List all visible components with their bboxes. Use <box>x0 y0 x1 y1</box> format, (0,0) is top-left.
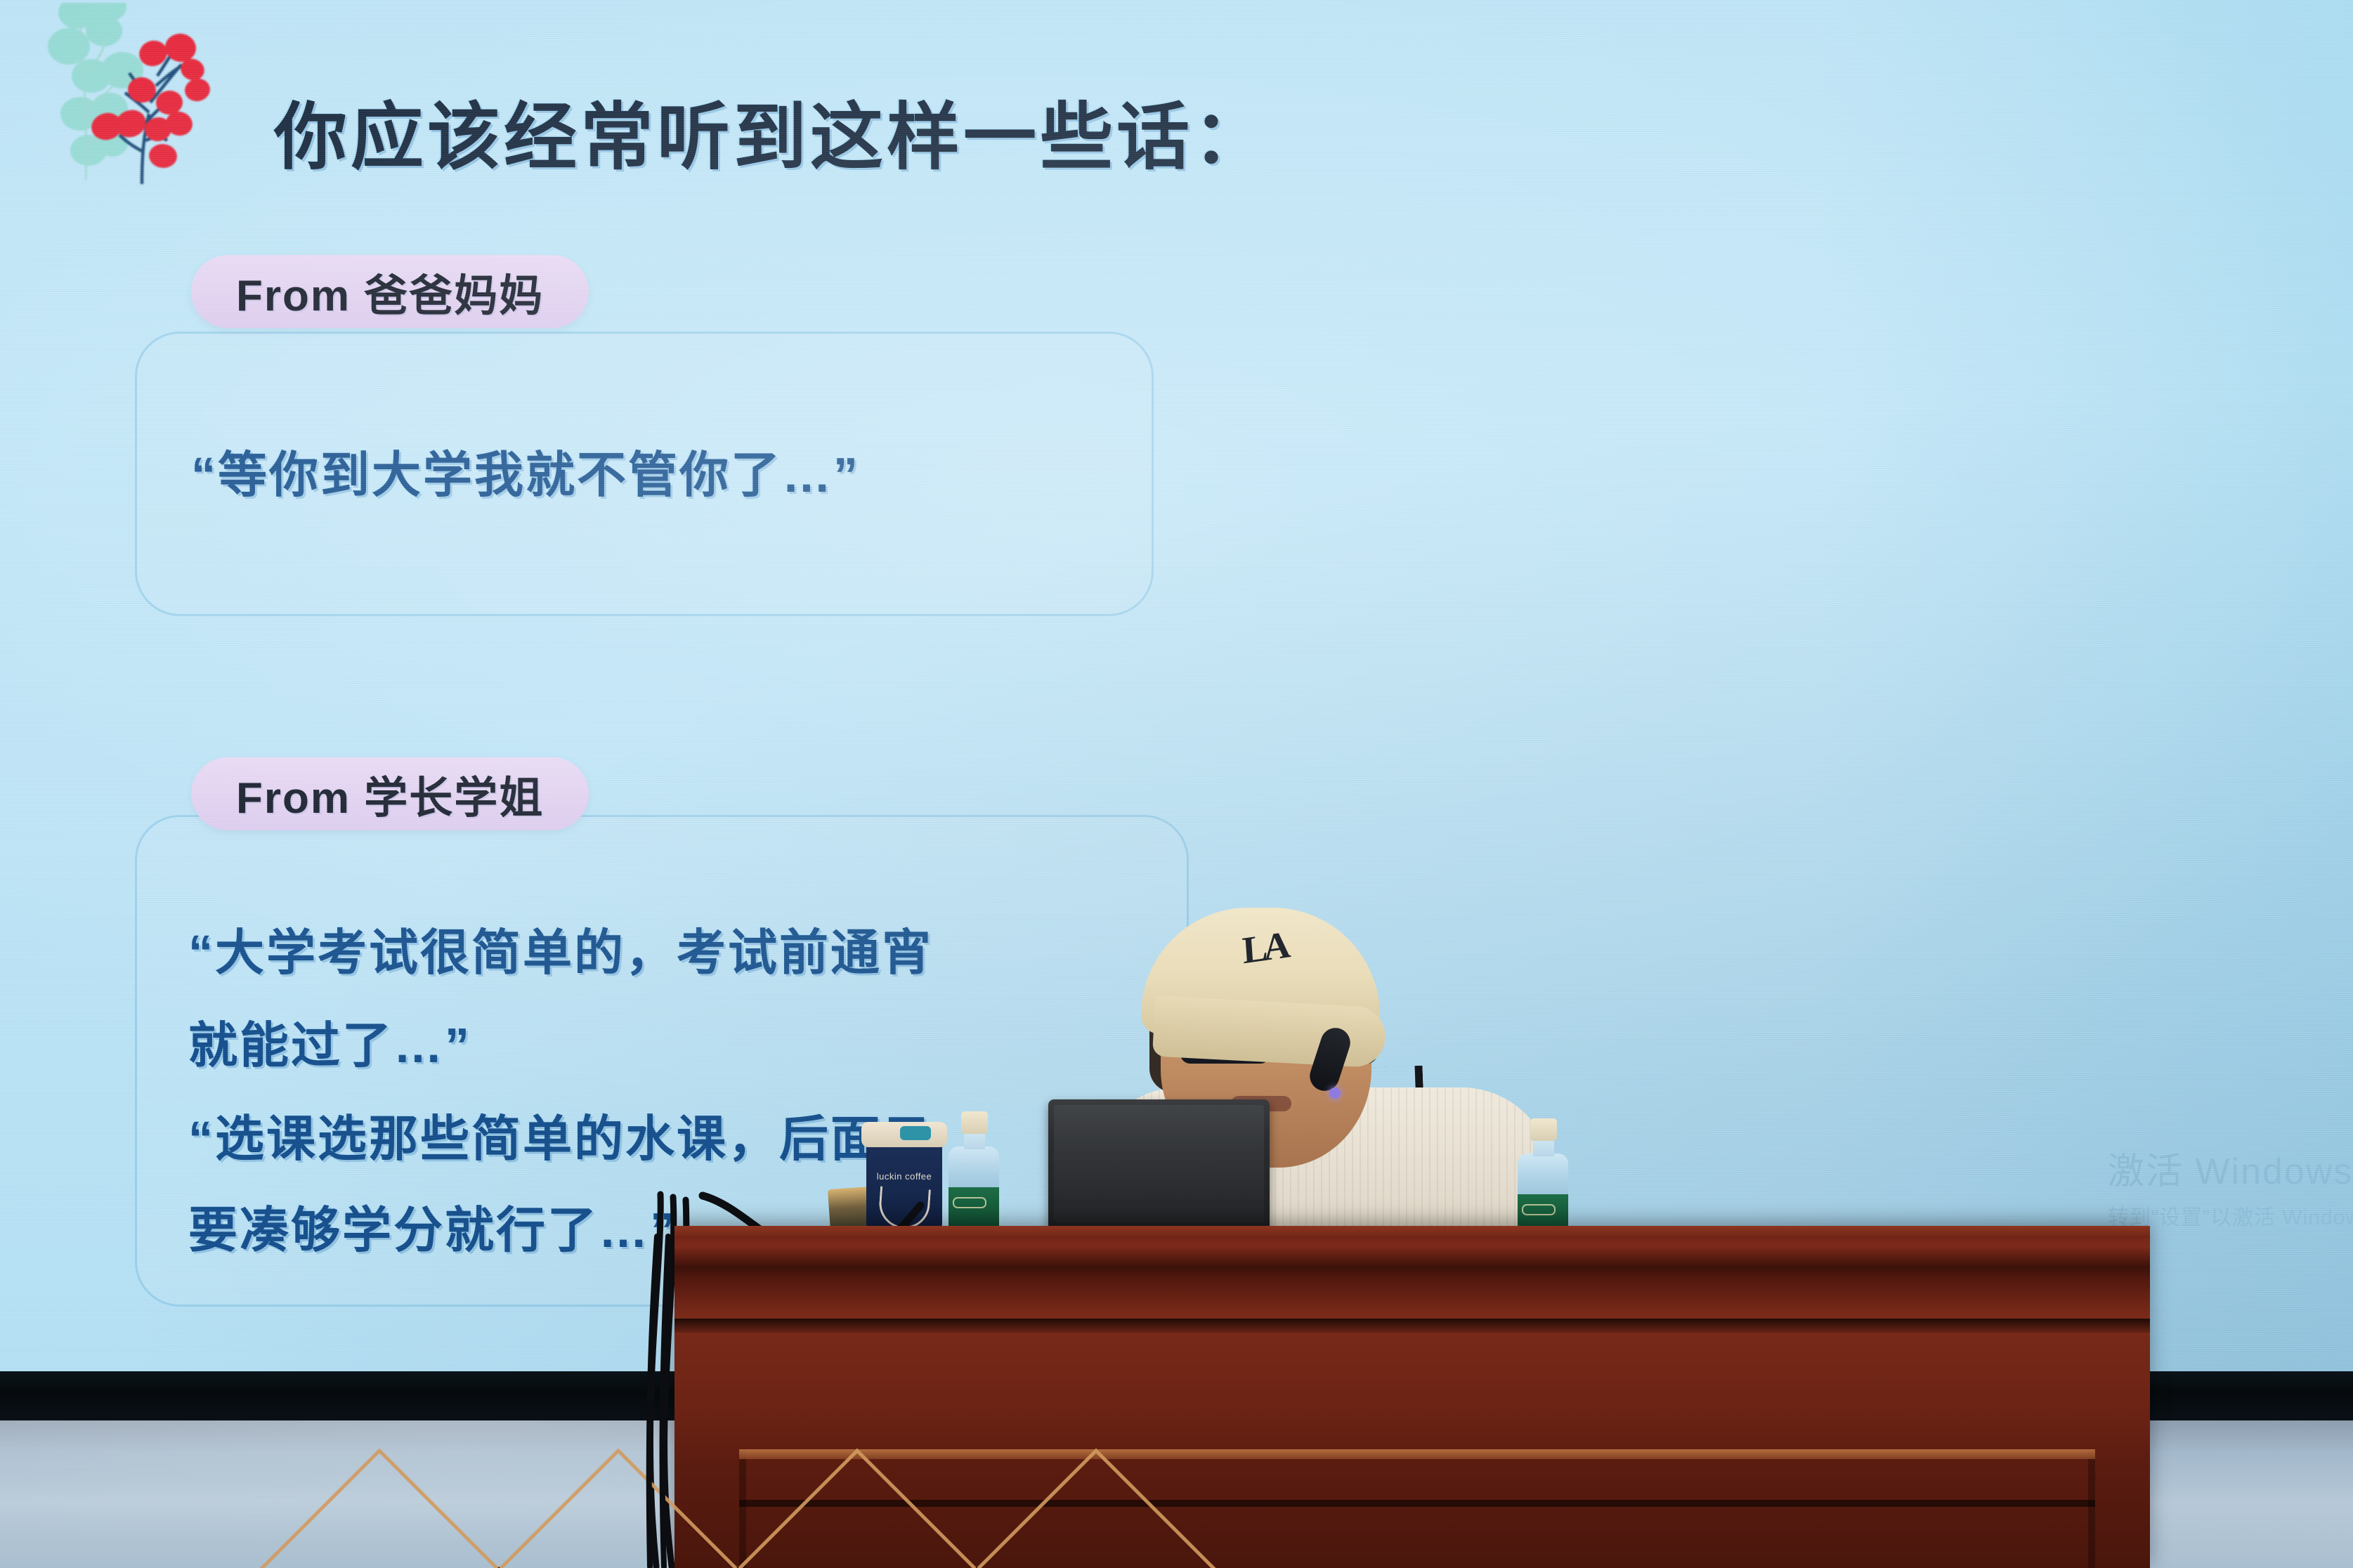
badge-from-seniors-label: From 学长学姐 <box>236 762 544 825</box>
windows-activation-watermark: 激活 Windows 转到“设置”以激活 Windows <box>2108 1142 2353 1231</box>
podium-shadow-lip <box>674 1319 2150 1333</box>
quote-parents-line-1: “等你到大学我就不管你了…” <box>191 436 860 507</box>
quote-seniors-line-3: “选课选那些简单的水课，后面只 <box>188 1099 933 1170</box>
podium-diamond-inlay <box>84 1359 1405 1568</box>
water-bottle-right <box>1518 1118 1568 1238</box>
badge-from-parents-label: From 爸爸妈妈 <box>236 260 544 323</box>
badge-from-parents: From 爸爸妈妈 <box>191 255 589 328</box>
podium-top-surface <box>674 1226 2150 1239</box>
water-bottle-left-label <box>949 1187 999 1228</box>
water-bottle-left-cap <box>961 1111 988 1134</box>
laptop <box>1048 1099 1270 1229</box>
water-bottle-left-neck <box>964 1132 985 1149</box>
quote-seniors-line-4: 要凑够学分就行了…” <box>188 1191 677 1262</box>
quote-seniors-line-2: 就能过了…” <box>188 1006 471 1077</box>
watercolor-berry-branch-decoration <box>37 3 247 207</box>
quote-seniors-line-1: “大学考试很简单的，考试前通宵 <box>188 913 933 984</box>
watermark-title: 激活 Windows <box>2108 1142 2353 1194</box>
water-bottle-right-neck <box>1533 1139 1554 1156</box>
water-bottle-left <box>949 1111 999 1231</box>
speaker-cap-brim <box>1152 995 1387 1068</box>
slide-title: 你应该经常听到这样一些话： <box>274 77 1270 183</box>
water-bottle-right-cap <box>1530 1118 1557 1141</box>
microphone-indicator-led <box>1329 1087 1341 1099</box>
photo-scene: 你应该经常听到这样一些话： From 爸爸妈妈 “等你到大学我就不管你了…” F… <box>0 0 2353 1568</box>
coffee-cup-brand-label: luckin coffee <box>866 1171 942 1182</box>
coffee-cup-deer-logo <box>878 1187 931 1231</box>
badge-from-seniors: From 学长学姐 <box>191 757 589 830</box>
coffee-cup-body: luckin coffee <box>866 1144 942 1231</box>
coffee-cup-lid-tab <box>900 1126 931 1140</box>
cap-logo-text: LA <box>1241 923 1288 973</box>
coffee-cup: luckin coffee <box>866 1122 942 1231</box>
